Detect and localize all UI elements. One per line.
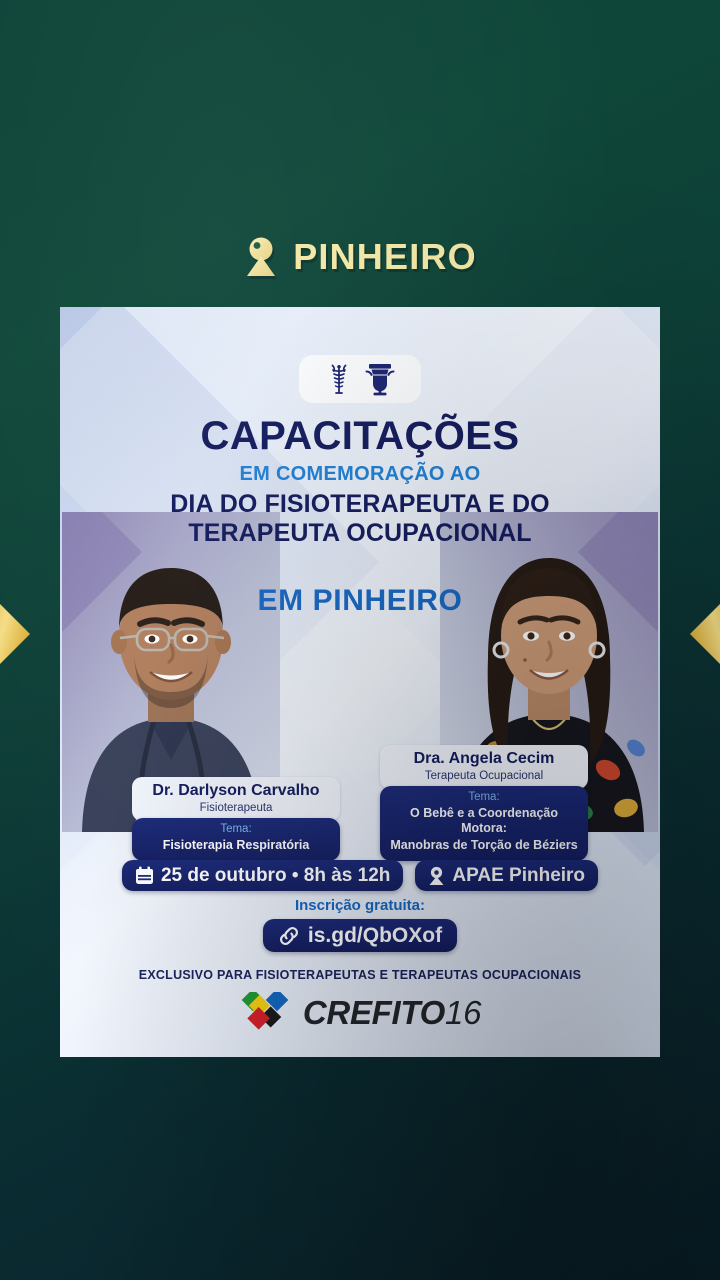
- map-pin-icon: [243, 235, 279, 279]
- poster-city: EM PINHEIRO: [60, 584, 660, 618]
- speaker-theme-box: Tema: Fisioterapia Respiratória: [132, 818, 340, 861]
- brand-logo: CREFITO16: [60, 992, 660, 1032]
- speaker-name-box: Dra. Angela Cecim Terapeuta Ocupacional: [380, 745, 588, 789]
- speaker-name: Dr. Darlyson Carvalho: [138, 783, 334, 800]
- calendar-icon: [135, 866, 154, 885]
- speaker-theme-text-line-2: Manobras de Torção de Béziers: [388, 838, 580, 854]
- speaker-theme-text: Fisioterapia Respiratória: [140, 838, 332, 854]
- poster-subtitle-2-line-1: DIA DO FISIOTERAPEUTA E DO: [60, 490, 660, 519]
- registration-block: Inscrição gratuita: is.gd/QbOXof: [60, 897, 660, 952]
- speaker-role: Fisioterapeuta: [138, 802, 334, 814]
- occupational-therapy-emblem-icon: [364, 362, 396, 396]
- speaker-theme-label: Tema:: [388, 791, 580, 805]
- link-icon: [278, 925, 300, 947]
- event-venue-text: APAE Pinheiro: [452, 866, 585, 885]
- speaker-card-darlyson: Dr. Darlyson Carvalho Fisioterapeuta Tem…: [132, 777, 340, 861]
- speaker-name-box: Dr. Darlyson Carvalho Fisioterapeuta: [132, 777, 340, 821]
- event-date-pill: 25 de outubro • 8h às 12h: [122, 860, 403, 891]
- page-title: CAPACITAÇÕES: [60, 415, 660, 457]
- emblem-tab: [299, 355, 421, 403]
- registration-label: Inscrição gratuita:: [60, 897, 660, 914]
- speaker-theme-text-line-1: O Bebê e a Coordenação Motora:: [388, 806, 580, 837]
- event-info-row: 25 de outubro • 8h às 12h APAE Pinheiro: [60, 860, 660, 891]
- chevron-right-decoration: [0, 588, 38, 680]
- speaker-theme-box: Tema: O Bebê e a Coordenação Motora: Man…: [380, 786, 588, 861]
- header-location: PINHEIRO: [0, 228, 720, 286]
- event-date-text: 25 de outubro • 8h às 12h: [161, 866, 390, 885]
- poster-stage: PINHEIRO: [0, 0, 720, 1280]
- event-poster-card: CAPACITAÇÕES EM COMEMORAÇÃO AO DIA DO FI…: [60, 307, 660, 1057]
- chevron-left-decoration: [682, 588, 720, 680]
- exclusive-note: EXCLUSIVO PARA FISIOTERAPEUTAS E TERAPEU…: [60, 968, 660, 982]
- poster-subtitle-2-line-2: TERAPEUTA OCUPACIONAL: [60, 519, 660, 548]
- crefito-diamond-logo: [239, 992, 291, 1032]
- header-location-label: PINHEIRO: [293, 239, 477, 275]
- speaker-name: Dra. Angela Cecim: [386, 751, 582, 768]
- speaker-theme-label: Tema:: [140, 823, 332, 837]
- map-pin-icon: [428, 866, 445, 886]
- event-venue-pill: APAE Pinheiro: [415, 860, 598, 891]
- brand-name-text: CREFITO: [303, 994, 445, 1031]
- brand-name: CREFITO16: [303, 996, 481, 1029]
- registration-url: is.gd/QbOXof: [308, 925, 442, 946]
- speaker-role: Terapeuta Ocupacional: [386, 770, 582, 782]
- poster-subtitle-1: EM COMEMORAÇÃO AO: [60, 463, 660, 486]
- poster-titles: CAPACITAÇÕES EM COMEMORAÇÃO AO DIA DO FI…: [60, 415, 660, 618]
- speaker-card-angela: Dra. Angela Cecim Terapeuta Ocupacional …: [380, 745, 588, 861]
- brand-number: 16: [445, 994, 481, 1031]
- registration-link-pill[interactable]: is.gd/QbOXof: [263, 919, 457, 952]
- caduceus-icon: [324, 362, 354, 396]
